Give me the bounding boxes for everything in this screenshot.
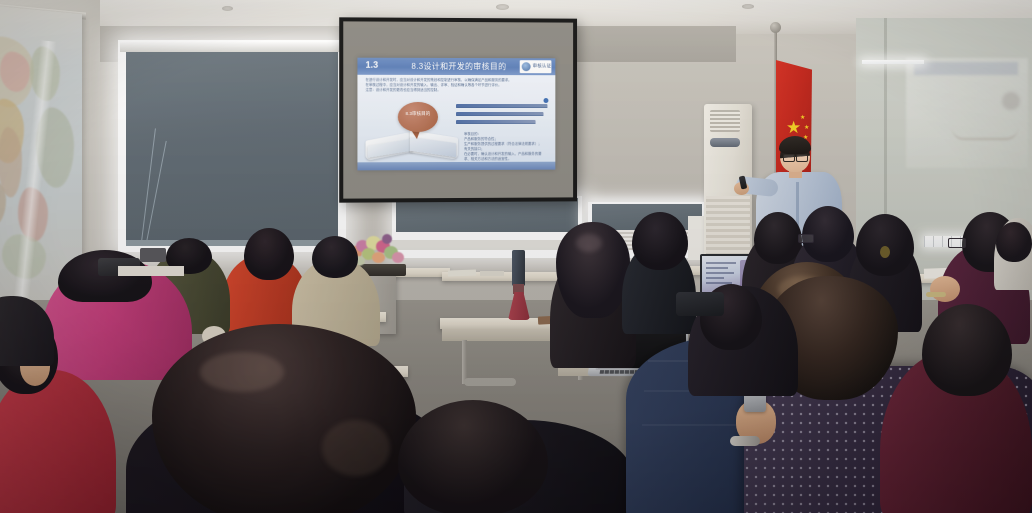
flag-star-icon: ★ xyxy=(800,114,805,121)
window-sill xyxy=(392,240,582,250)
hair-highlight xyxy=(322,420,390,476)
attendee-hand xyxy=(930,276,960,302)
slide-underline xyxy=(456,115,543,116)
paper-sheet xyxy=(118,266,184,276)
reflection-title-band xyxy=(914,62,1018,75)
projection-screen: 1.3 8.3设计和开发的审核目的 审核认证 在进行设计和开发时，应当对设计和开… xyxy=(339,17,577,202)
slide-logo-text: 审核认证 xyxy=(533,63,552,69)
presenter-hair xyxy=(779,136,811,154)
flag-finial xyxy=(770,22,781,33)
glasses-icon xyxy=(798,234,814,243)
flag-star-icon: ★ xyxy=(786,120,802,136)
ac-grille-icon xyxy=(710,110,740,132)
wristwatch xyxy=(730,436,760,446)
attendee-head xyxy=(312,236,358,278)
ceiling-light-icon xyxy=(742,4,754,9)
attendee-head xyxy=(922,304,1012,396)
blind-bottom-bar xyxy=(126,240,338,246)
attendee-hair-foreground xyxy=(152,324,416,513)
slide-number: 1.3 xyxy=(366,60,379,70)
hair-highlight xyxy=(200,352,284,392)
flag-star-icon: ★ xyxy=(804,124,809,131)
paper-sheet[interactable] xyxy=(448,270,476,277)
bag xyxy=(676,292,724,316)
ceiling-light-icon xyxy=(496,4,509,10)
thermos-lid[interactable] xyxy=(512,250,525,286)
reflection-bubble xyxy=(1002,92,1020,110)
ac-lower-vent xyxy=(706,196,750,258)
desk-foot-rail xyxy=(464,378,516,386)
roller-blind[interactable] xyxy=(396,198,578,232)
hair-highlight xyxy=(576,234,602,252)
glasses-icon xyxy=(796,154,808,162)
ceiling-light-icon xyxy=(222,6,233,11)
blind-headrail[interactable] xyxy=(120,42,344,52)
glasses-icon xyxy=(948,238,966,248)
attendee-head xyxy=(632,212,688,270)
ac-control-panel[interactable] xyxy=(710,138,740,147)
roller-blind[interactable] xyxy=(126,52,338,242)
equipment-box xyxy=(140,248,166,262)
logo-mark-icon xyxy=(522,62,531,71)
bubble-label: 8.3审核目的 xyxy=(404,110,432,117)
attendee-head xyxy=(996,222,1032,262)
slide-surface: 1.3 8.3设计和开发的审核目的 审核认证 在进行设计和开发时，应当对设计和开… xyxy=(357,58,555,171)
attendee-head xyxy=(754,212,802,264)
bracelet-icon xyxy=(926,292,946,297)
slide-title-text: 8.3设计和开发的审核目的 xyxy=(404,61,514,72)
slide-accent-dot xyxy=(543,98,548,103)
paper-sheet[interactable] xyxy=(480,271,504,276)
slide-underline xyxy=(456,123,536,124)
attendee-hair xyxy=(856,214,914,276)
attendee-head xyxy=(244,228,294,280)
glasses-bridge xyxy=(793,156,797,157)
slide-underline xyxy=(456,107,547,108)
slide-footer-bar xyxy=(357,162,555,171)
classroom-photo: 世界地图 1.3 8.3设计和开发的审核目的 审核认证 在进行设计和开发时，应当… xyxy=(0,0,1032,513)
reflection-book xyxy=(952,128,1018,140)
hair-clip-icon xyxy=(880,246,890,258)
right-tube-light xyxy=(862,60,924,64)
slide-paragraph: 注意：设计和开发的更改也应当得到适当的控制。 xyxy=(366,88,548,93)
